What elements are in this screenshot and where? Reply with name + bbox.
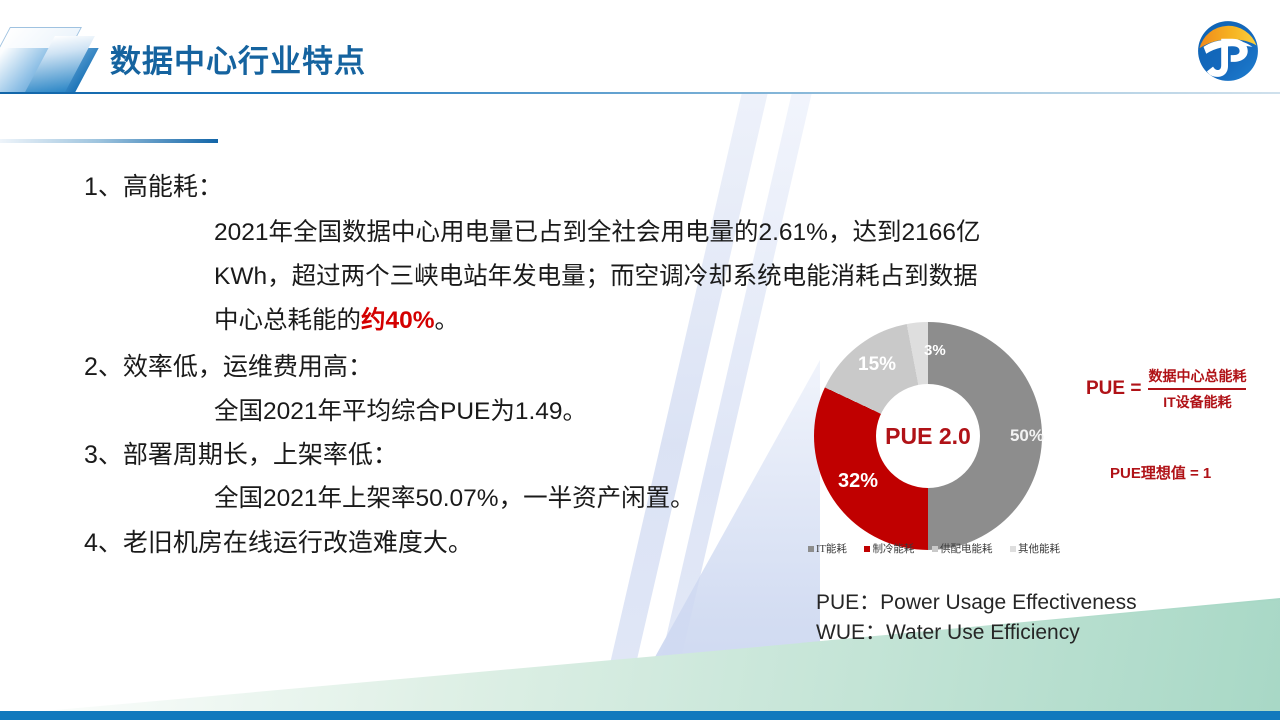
legend-item: IT能耗 [808,541,847,556]
list-item-1-heading: 高能耗： [123,173,223,201]
list-item-2: 2、效率低，运维费用高： [84,355,373,380]
pue-donut-chart: PUE 2.0 50% 32% 15% 3% [814,322,1042,550]
legend-label: 供配电能耗 [940,541,993,556]
list-item-2-number: 2、 [84,353,123,381]
legend-label: 其他能耗 [1018,541,1060,556]
list-item-1-detail-line-1: 2021年全国数据中心用电量已占到全社会用电量的2.61%，达到2166亿 [214,221,980,246]
legend-item: 其他能耗 [1010,541,1060,556]
list-item-1: 1、高能耗： [84,175,223,200]
list-item-4: 4、老旧机房在线运行改造难度大。 [84,531,473,556]
formula-numerator: 数据中心总能耗 [1148,366,1246,388]
legend-item: 制冷能耗 [864,541,914,556]
list-item-3-detail: 全国2021年上架率50.07%，一半资产闲置。 [214,487,695,512]
donut-center: PUE 2.0 [876,384,980,488]
list-item-4-heading: 老旧机房在线运行改造难度大。 [123,529,473,557]
list-item-2-heading: 效率低，运维费用高： [123,353,373,381]
list-item-1-detail-line-2: KWh，超过两个三峡电站年发电量；而空调冷却系统电能消耗占到数据 [214,265,978,290]
legend-label: 制冷能耗 [872,541,914,556]
detail-line-3-prefix: 中心总耗能的 [214,307,361,334]
list-item-3-heading: 部署周期长，上架率低： [123,441,398,469]
glossary-block: PUE：Power Usage Effectiveness WUE：Water … [816,588,1137,648]
slice-label-it: 50% [1010,426,1044,446]
list-item-1-number: 1、 [84,173,123,201]
pue-ideal-value: PUE理想值 = 1 [1110,462,1211,483]
chart-legend: IT能耗制冷能耗供配电能耗其他能耗 [808,541,1060,556]
slice-label-cooling: 32% [838,470,878,493]
legend-swatch-icon [932,546,938,552]
list-item-3: 3、部署周期长，上架率低： [84,443,398,468]
glossary-wue: WUE：Water Use Efficiency [816,618,1137,648]
detail-line-3-suffix: 。 [435,307,460,334]
glossary-pue: PUE：Power Usage Effectiveness [816,588,1137,618]
list-item-1-detail-line-3: 中心总耗能的约40%。 [214,309,459,334]
formula-denominator: IT设备能耗 [1163,390,1231,412]
list-item-2-detail: 全国2021年平均综合PUE为1.49。 [214,400,587,425]
donut-center-label: PUE 2.0 [885,423,971,450]
legend-item: 供配电能耗 [932,541,993,556]
legend-swatch-icon [864,546,870,552]
slice-label-other: 3% [924,342,946,359]
formula-fraction: 数据中心总能耗 IT设备能耗 [1148,366,1246,412]
legend-label: IT能耗 [816,541,847,556]
slice-label-power: 15% [858,354,896,376]
emphasis-40-percent: 约40% [361,307,435,334]
formula-lhs: PUE = [1086,378,1141,400]
legend-swatch-icon [808,546,814,552]
list-item-3-number: 3、 [84,441,123,469]
slide-canvas: 数据中心行业特点 1、高能 [0,0,1280,720]
list-item-4-number: 4、 [84,529,123,557]
pue-formula: PUE = 数据中心总能耗 IT设备能耗 [1086,366,1246,412]
legend-swatch-icon [1010,546,1016,552]
